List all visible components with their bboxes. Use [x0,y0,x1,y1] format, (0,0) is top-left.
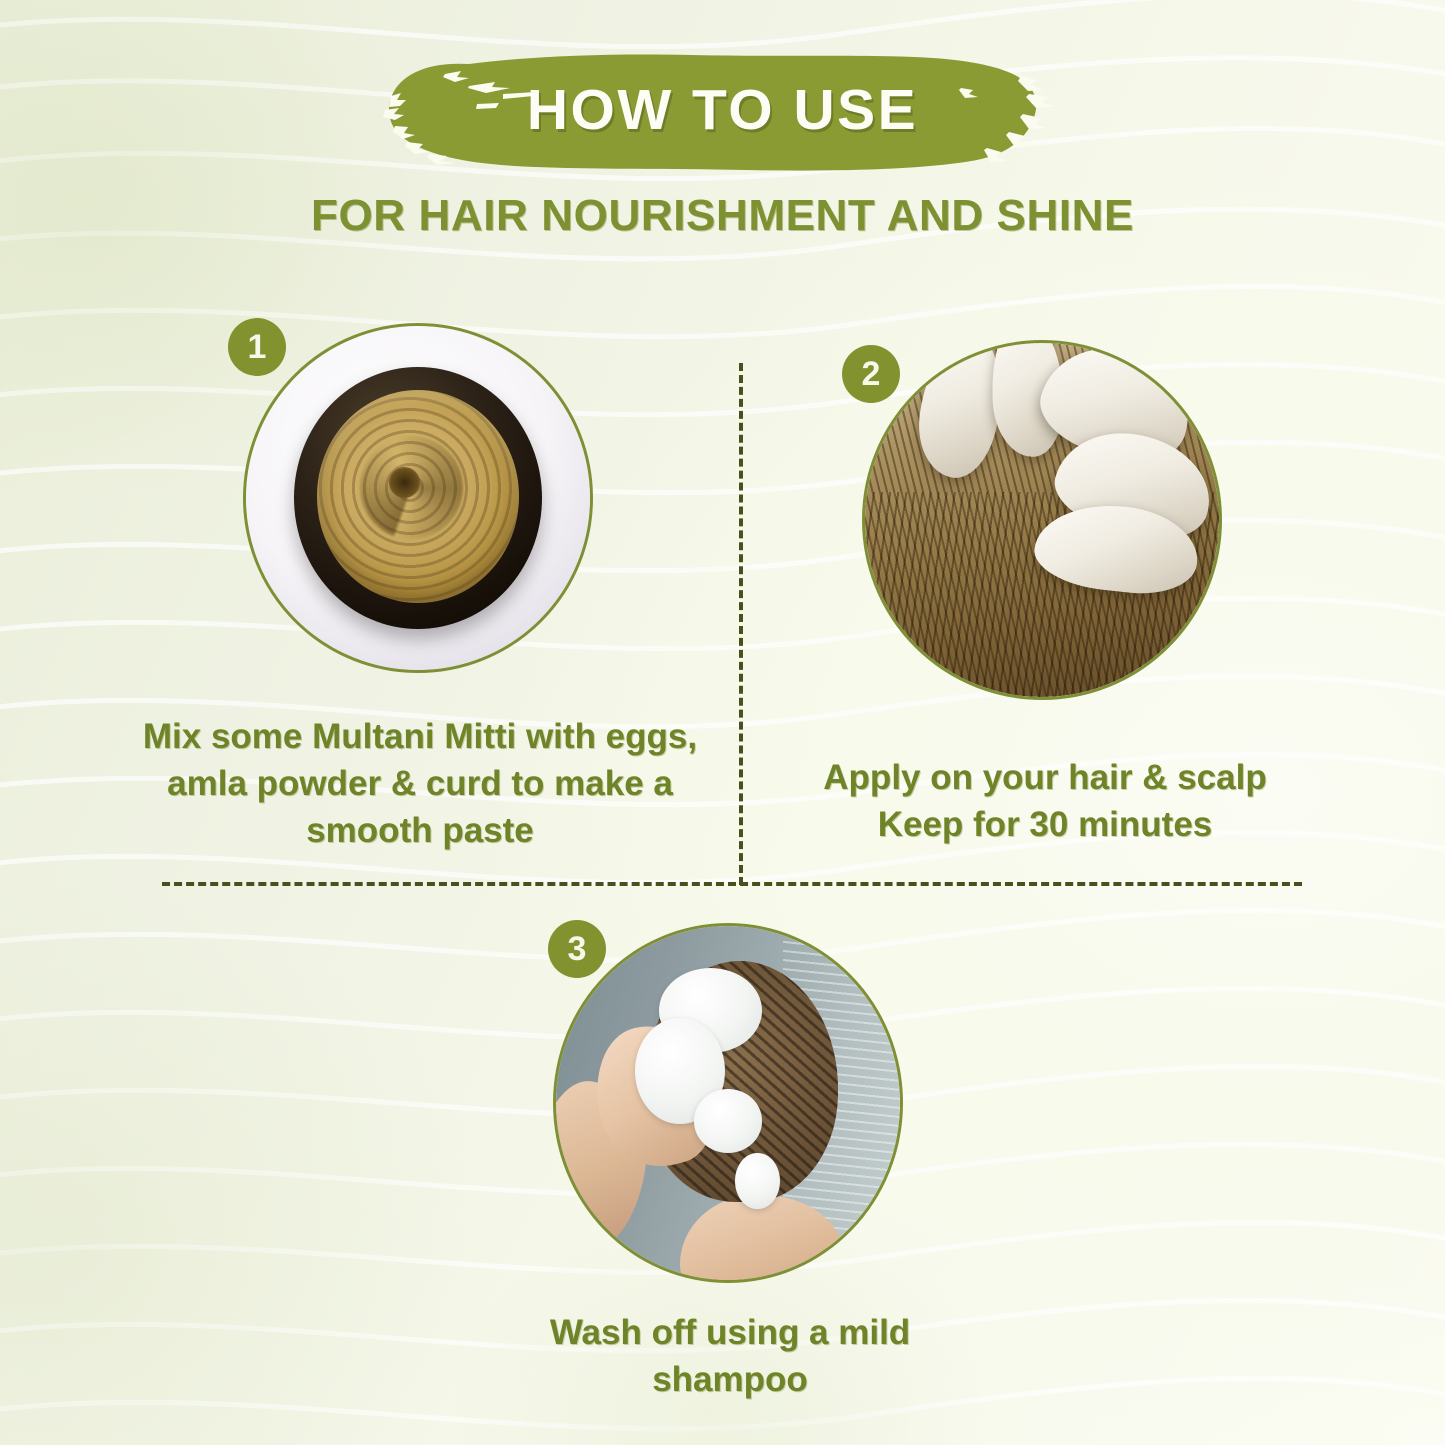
horizontal-divider [162,882,1302,886]
bowl-of-paste-illustration [246,326,590,670]
step-2-number-badge: 2 [842,345,900,403]
how-to-use-infographic: HOW TO USE FOR HAIR NOURISHMENT AND SHIN… [0,0,1445,1445]
step-1-number-badge: 1 [228,318,286,376]
step-2-image [862,340,1222,700]
step-3-number-badge: 3 [548,920,606,978]
step-1-image [243,323,593,673]
step-1-caption: Mix some Multani Mitti with eggs, amla p… [120,714,720,855]
washing-hair-illustration [556,926,900,1280]
page-title: HOW TO USE [527,77,918,143]
step-3-caption: Wash off using a mild shampoo [510,1310,950,1404]
header-banner: HOW TO USE [0,48,1445,176]
vertical-divider [739,363,743,885]
step-2-caption: Apply on your hair & scalp Keep for 30 m… [800,755,1290,849]
page-subtitle: FOR HAIR NOURISHMENT AND SHINE [0,191,1445,241]
step-3-image [553,923,903,1283]
applying-paste-illustration [865,343,1219,697]
